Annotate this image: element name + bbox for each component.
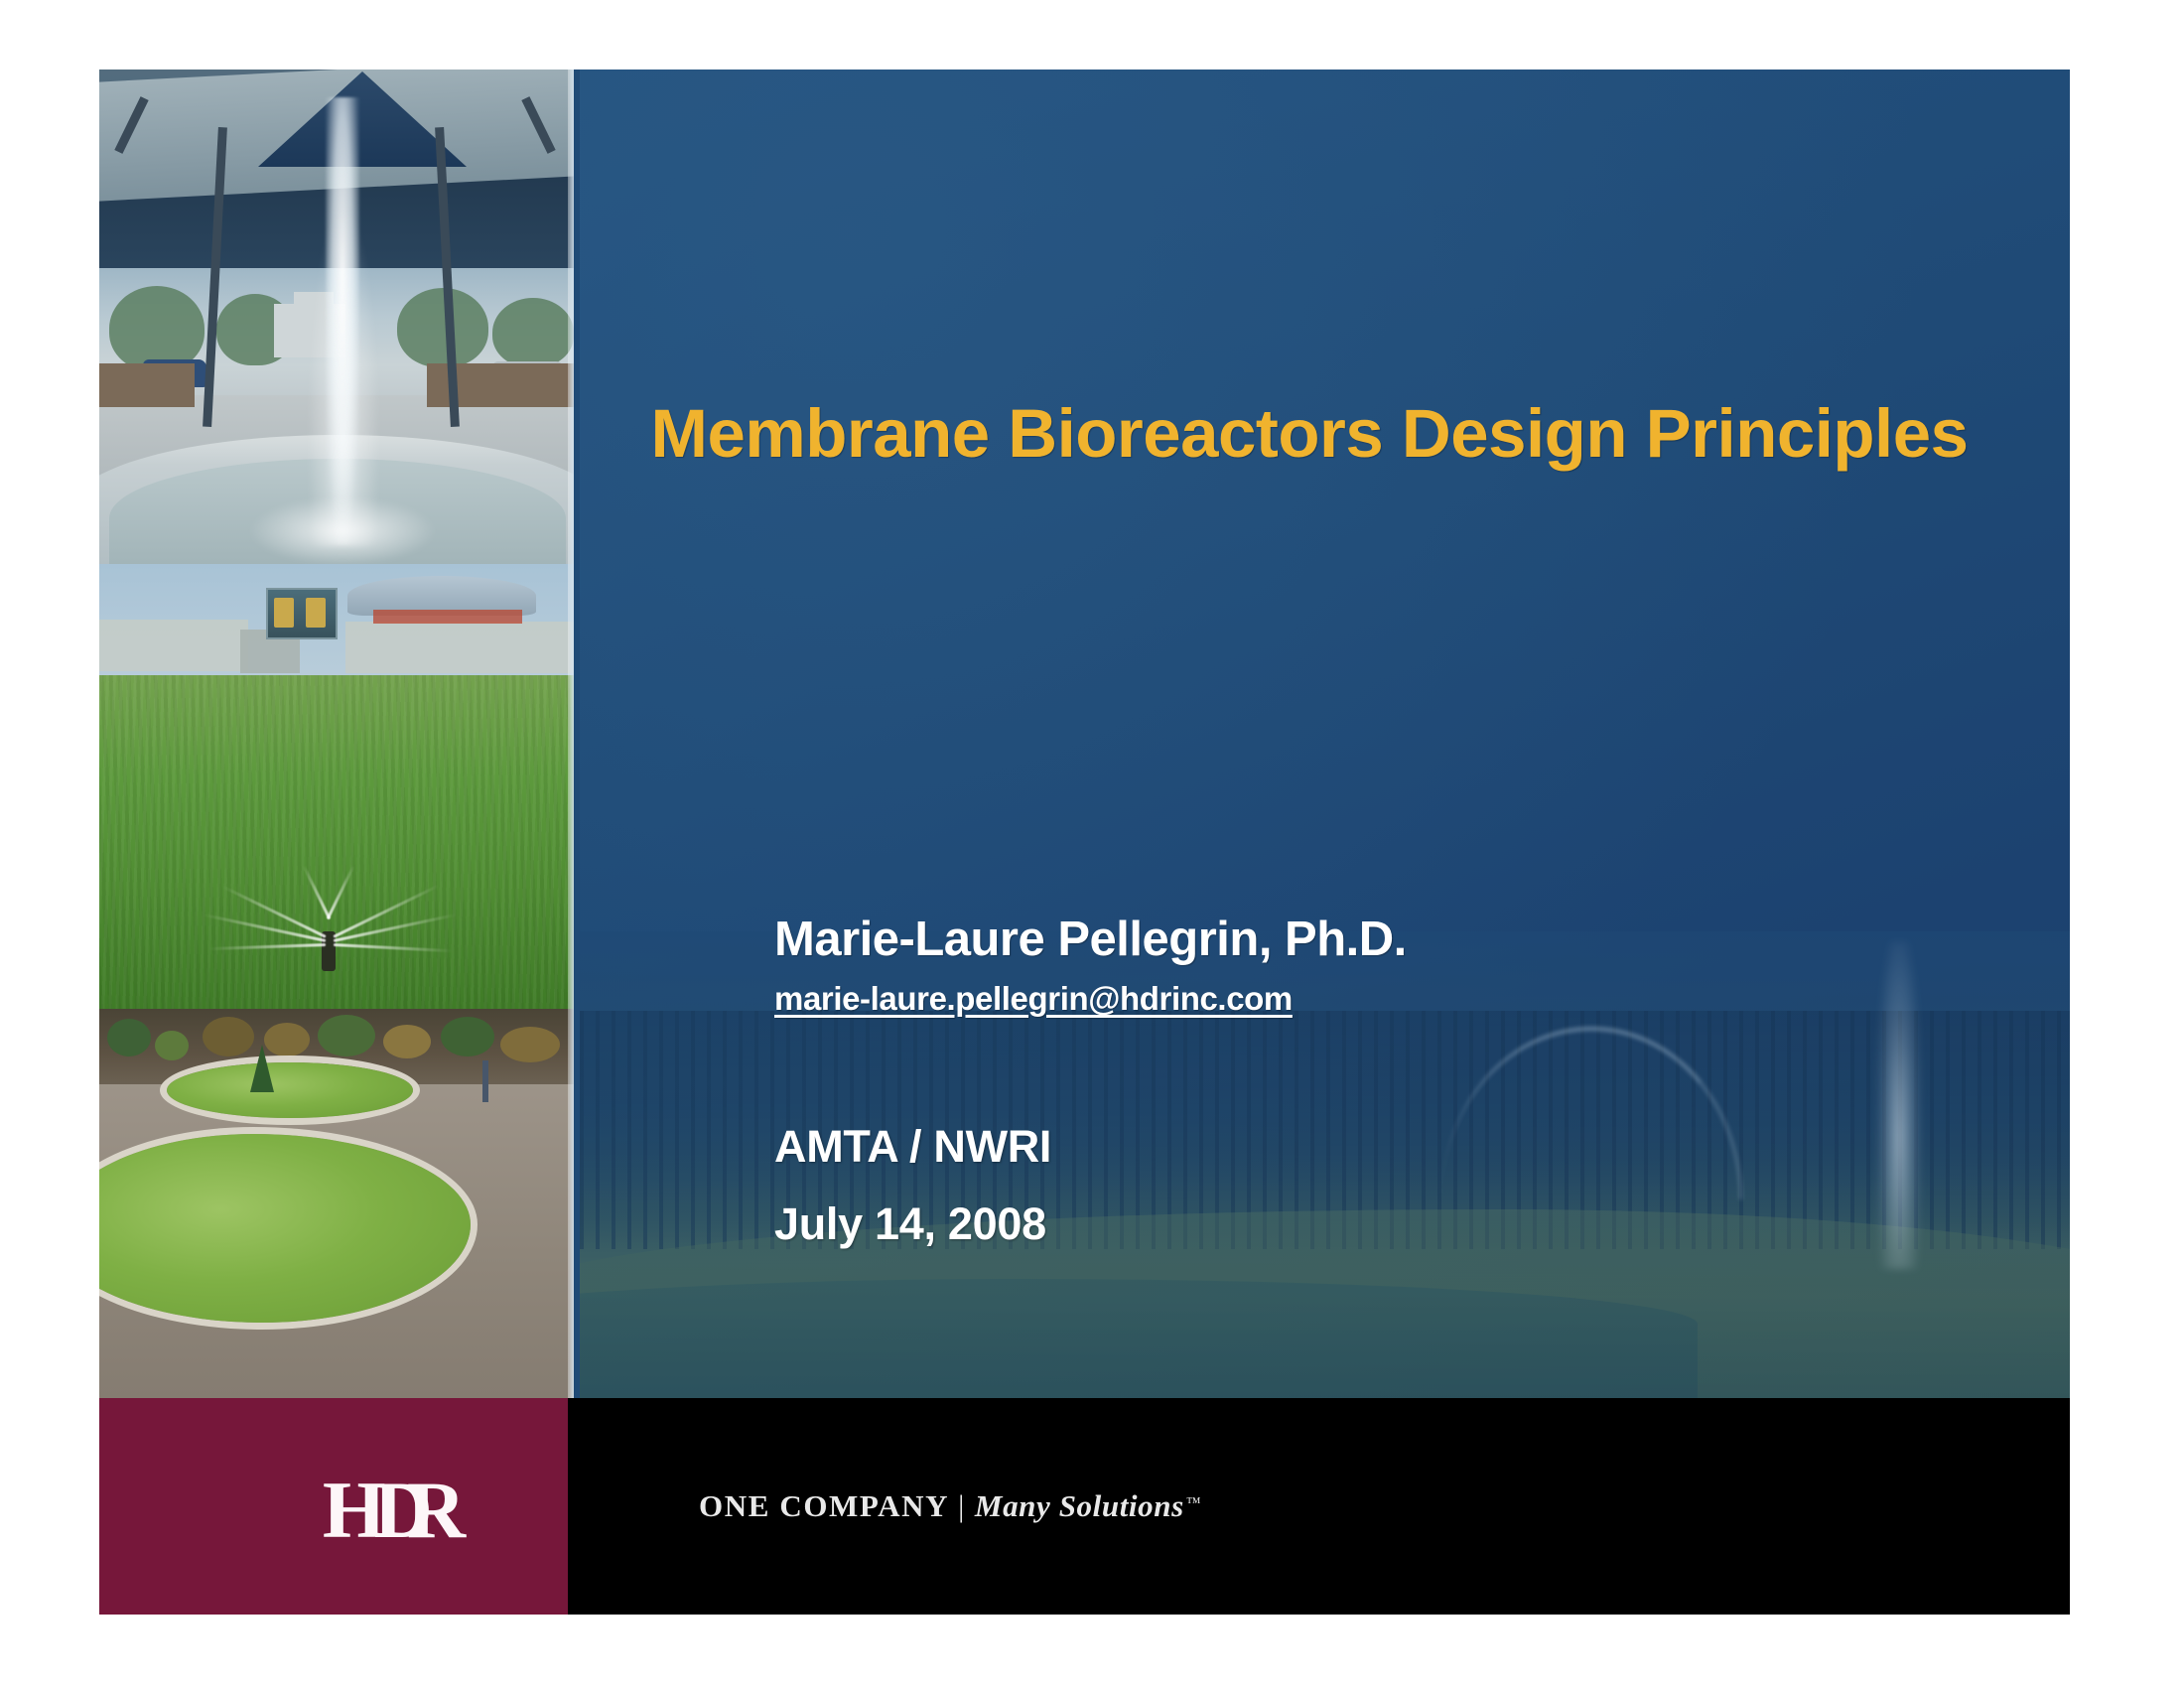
event-date: July 14, 2008 [774,1198,1866,1250]
background-hill-foreground [580,1279,1698,1398]
hdr-logo-letter-r: R [407,1465,460,1555]
hdr-logo-box: HDR [99,1398,568,1615]
left-photo-strip [99,70,574,1398]
title-block: Membrane Bioreactors Design Principles [649,395,1970,472]
hdr-logo: HDR [323,1470,460,1551]
fountain-pavilion-photo [99,70,574,564]
footer-bar: ONE COMPANY | Many Solutions ™ [568,1398,2070,1615]
landscaped-garden-photo [99,1009,574,1398]
tagline-separator: | [958,1488,966,1524]
presentation-slide: HDR Membrane Bioreactors Design Principl… [99,70,2070,1615]
background-water-spray [1877,941,1921,1269]
slide-title: Membrane Bioreactors Design Principles [649,395,1970,472]
presenter-email-link[interactable]: marie-laure.pellegrin@hdrinc.com [774,980,1293,1018]
tagline-secondary: Many Solutions [975,1488,1184,1524]
presenter-name: Marie-Laure Pellegrin, Ph.D. [774,914,1866,967]
company-tagline: ONE COMPANY | Many Solutions ™ [699,1488,1202,1524]
tagline-primary: ONE COMPANY [699,1488,949,1524]
trademark-symbol: ™ [1186,1495,1202,1512]
presenter-info-block: Marie-Laure Pellegrin, Ph.D. marie-laure… [774,914,1866,1250]
hdr-logo-letter-h: H [323,1465,380,1555]
event-name: AMTA / NWRI [774,1121,1866,1173]
irrigation-sprinkler-field-photo [99,564,574,1009]
slide-main-panel: Membrane Bioreactors Design Principles M… [580,70,2070,1398]
